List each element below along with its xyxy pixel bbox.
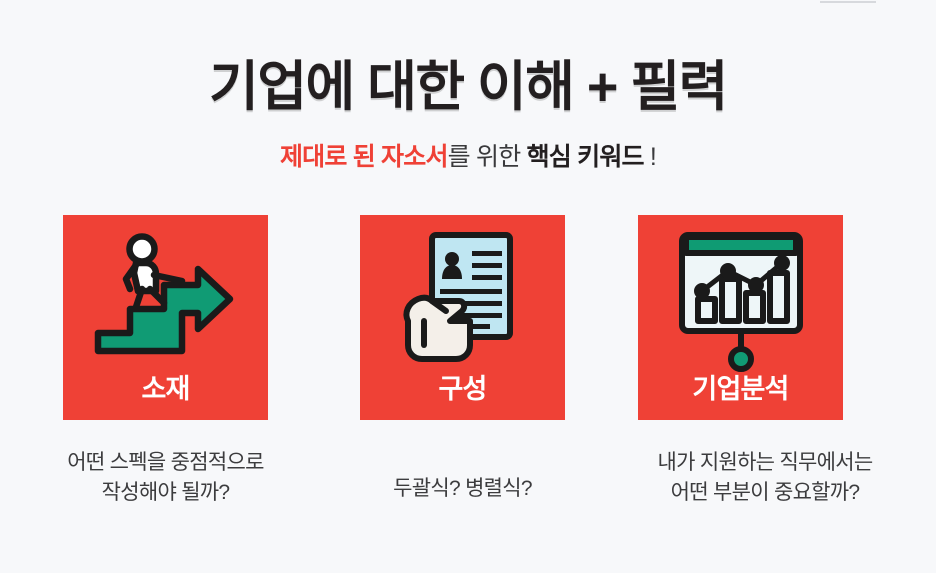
card-sojae[interactable]: 소재 [63,215,268,420]
caption-line: 어떤 부분이 중요할까? [600,478,930,508]
presentation-chart-icon [638,229,843,369]
caption-gieopbunseok: 내가 지원하는 직무에서는 어떤 부분이 중요할까? [600,448,930,508]
card-guseong[interactable]: 구성 [360,215,565,420]
card-label: 기업분석 [638,367,843,406]
card-label: 소재 [63,367,268,406]
caption-sojae: 어떤 스펙을 중점적으로 작성해야 될까? [8,448,323,508]
subtitle-suffix: ! [644,143,656,171]
caption-line: 내가 지원하는 직무에서는 [600,448,930,478]
page-title: 기업에 대한 이해 + 필력 [0,58,936,116]
card-gieopbunseok[interactable]: 기업분석 [638,215,843,420]
caption-line: 두괄식? 병렬식? [320,474,605,504]
top-edge-artifact [820,1,876,3]
slide-canvas: 기업에 대한 이해 + 필력 제대로 된 자소서를 위한 핵심 키워드 ! 소재 [0,0,936,573]
card-label: 구성 [360,367,565,406]
caption-line: 어떤 스펙을 중점적으로 [8,448,323,478]
subtitle-plain: 를 위한 [448,143,527,171]
hand-holding-resume-icon [360,229,565,369]
caption-guseong: 두괄식? 병렬식? [320,474,605,504]
subtitle-strong: 핵심 키워드 [527,143,644,171]
subtitle-accent: 제대로 된 자소서 [280,143,448,171]
person-climbing-stairs-icon [63,229,268,369]
caption-line: 작성해야 될까? [8,478,323,508]
page-subtitle: 제대로 된 자소서를 위한 핵심 키워드 ! [0,142,936,172]
